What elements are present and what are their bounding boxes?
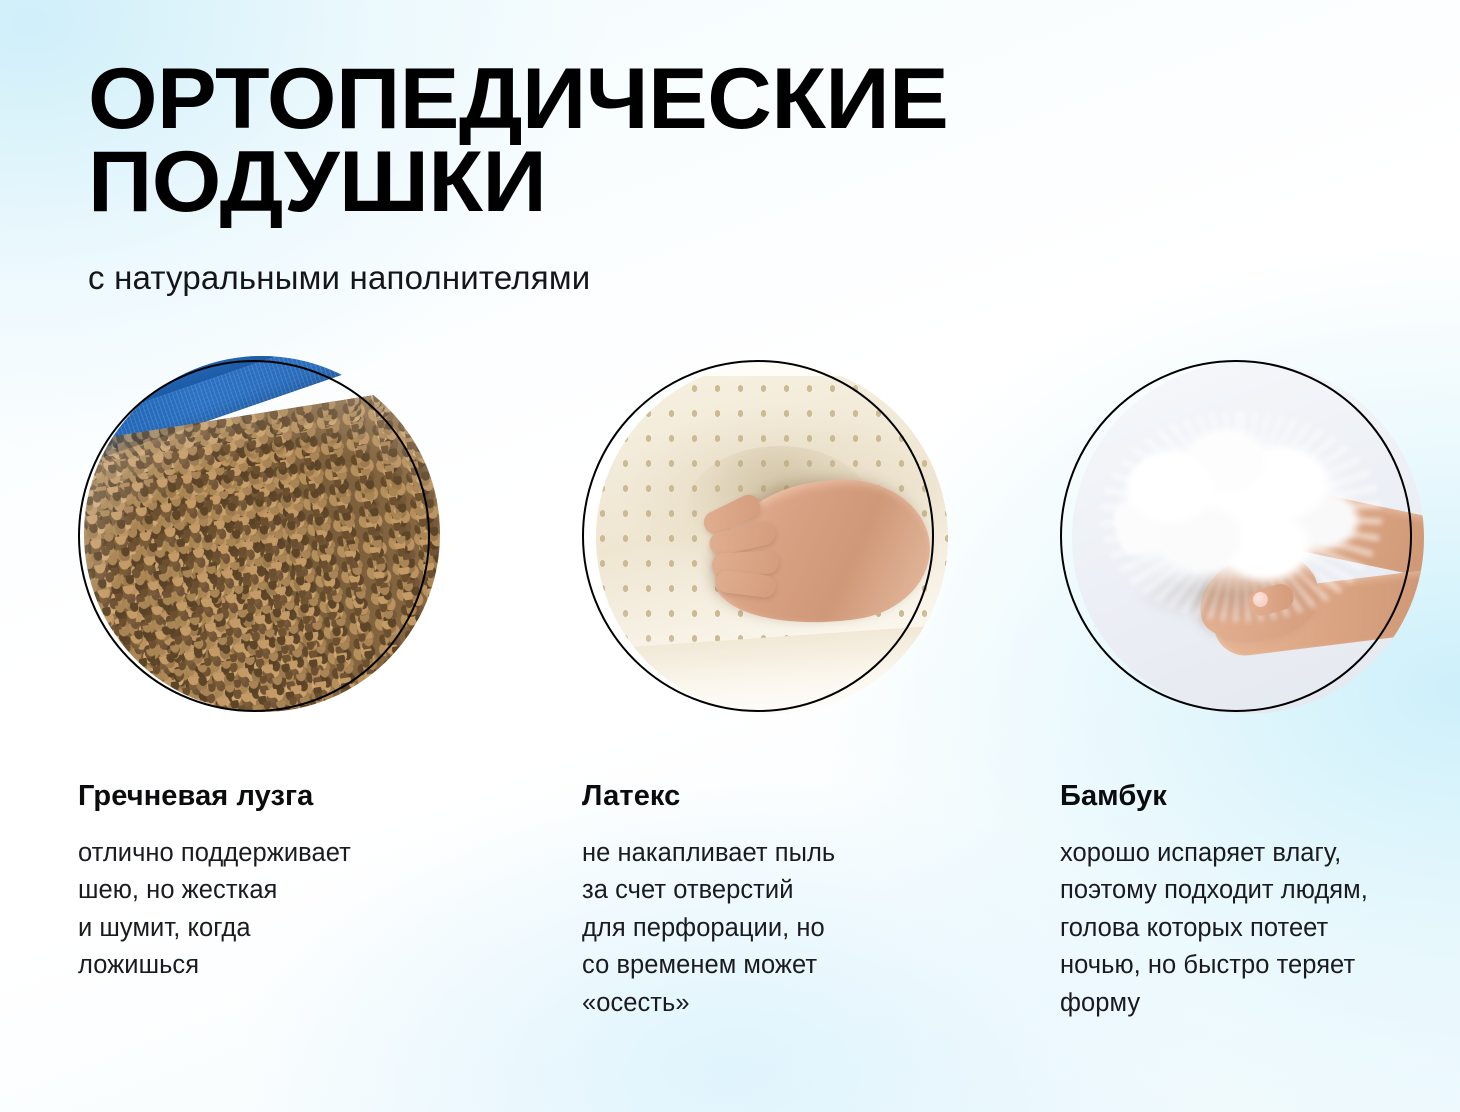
feature-column-latex: Латекс не накапливает пыль за счет отвер… [566,360,982,1112]
feature-columns: Гречневая лузга отлично поддерживает шею… [0,360,1460,1112]
photo-latex [582,360,934,712]
page-title-line-1: ОРТОПЕДИЧЕСКИЕ [88,51,948,147]
photo-buckwheat [78,360,430,712]
bamboo-fibre-cloud [1114,425,1367,608]
buckwheat-husk-grains [84,382,440,712]
photo-buckwheat-image [84,356,440,712]
caption-body-buckwheat: отлично поддерживает шею, но жесткая и ш… [78,835,478,985]
caption-bamboo: Бамбук хорошо испаряет влагу, поэтому по… [1060,712,1460,1022]
page-title: ОРТОПЕДИЧЕСКИЕПОДУШКИ [88,58,1440,223]
caption-title-buckwheat: Гречневая лузга [78,780,478,813]
photo-latex-image [596,362,948,714]
caption-body-latex: не накапливает пыль за счет отверстий дл… [582,835,952,1022]
caption-body-bamboo: хорошо испаряет влагу, поэтому подходит … [1060,835,1460,1022]
feature-column-buckwheat: Гречневая лузга отлично поддерживает шею… [62,360,478,1112]
caption-buckwheat: Гречневая лузга отлично поддерживает шею… [78,712,478,985]
photo-bamboo-image [1072,362,1424,714]
feature-column-bamboo: Бамбук хорошо испаряет влагу, поэтому по… [1044,360,1460,1112]
photo-bamboo [1060,360,1412,712]
caption-title-latex: Латекс [582,780,982,813]
caption-title-bamboo: Бамбук [1060,780,1460,813]
caption-latex: Латекс не накапливает пыль за счет отвер… [582,712,982,1022]
poster-header: ОРТОПЕДИЧЕСКИЕПОДУШКИ с натуральными нап… [88,58,1388,297]
page-subtitle: с натуральными наполнителями [88,223,1388,297]
infographic-poster: ОРТОПЕДИЧЕСКИЕПОДУШКИ с натуральными нап… [0,0,1460,1112]
page-title-line-2: ПОДУШКИ [88,141,1440,224]
